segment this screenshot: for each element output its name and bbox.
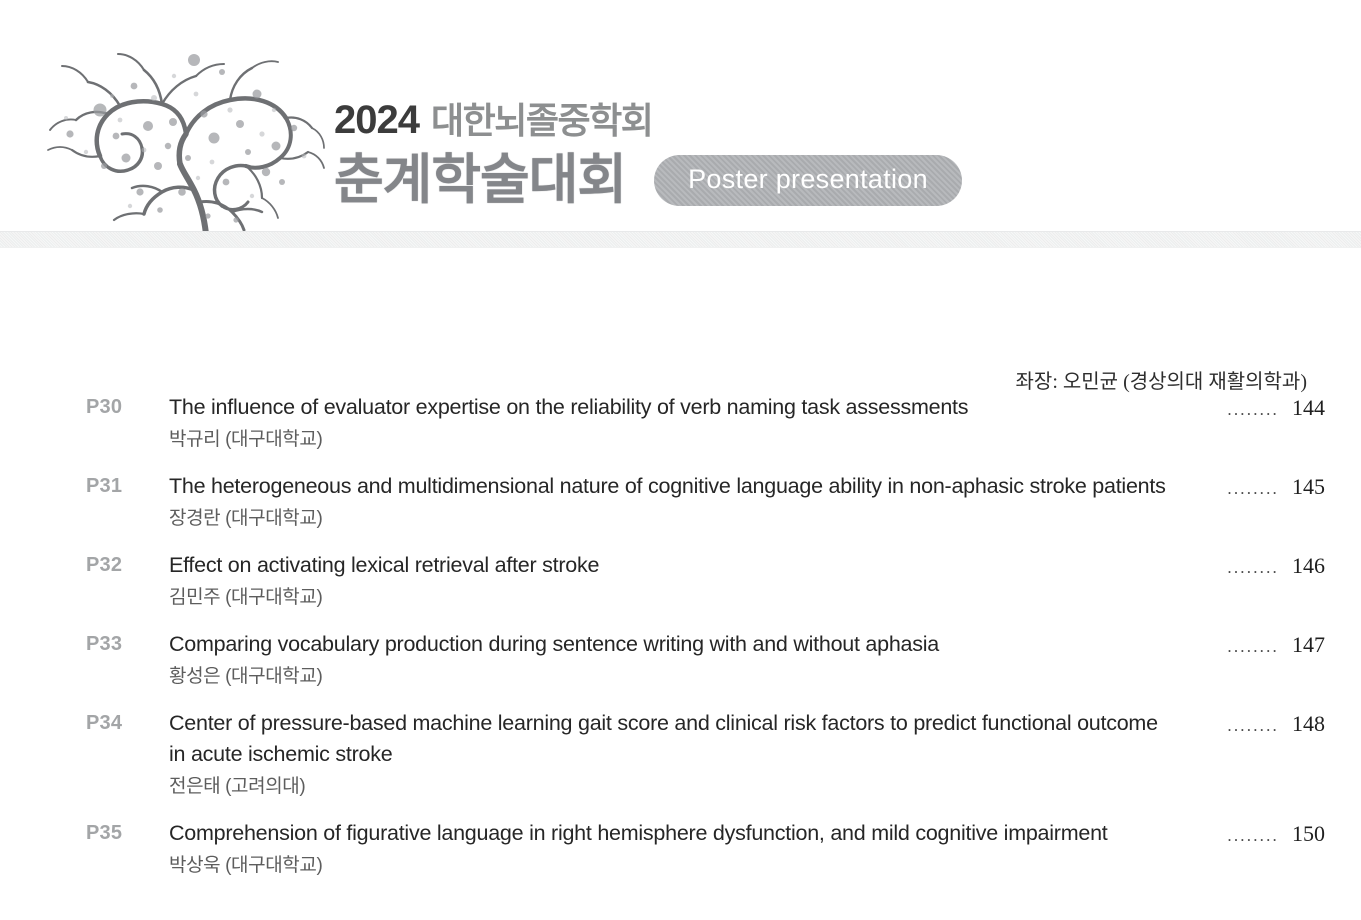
poster-title[interactable]: Center of pressure-based machine learnin… [169,708,1179,770]
conference-year: 2024 [334,100,419,140]
poster-author: 박상욱 (대구대학교) [169,850,1361,881]
society-name: 대한뇌졸중학회 [431,103,652,139]
header-divider-band [0,231,1361,248]
brain-tree-logo [8,6,338,236]
poster-code: P30 [0,392,164,423]
poster-code: P34 [0,708,164,739]
poster-entry[interactable]: P31The heterogeneous and multidimensiona… [0,471,1361,540]
conference-title-block: 2024 대한뇌졸중학회 춘계학술대회 Poster presentation [334,100,1054,225]
poster-entry-list: P30The influence of evaluator expertise … [0,392,1361,887]
poster-code: P33 [0,629,164,660]
poster-entry[interactable]: P34Center of pressure-based machine lear… [0,708,1361,808]
poster-author: 전은태 (고려의대) [169,771,1361,802]
poster-title[interactable]: Comprehension of figurative language in … [169,818,1179,849]
poster-author: 장경란 (대구대학교) [169,503,1361,534]
title-line-two: 춘계학술대회 Poster presentation [334,152,962,209]
poster-code: P35 [0,818,164,849]
title-line-one: 2024 대한뇌졸중학회 [334,100,652,148]
poster-code: P32 [0,550,164,581]
poster-entry[interactable]: P35Comprehension of figurative language … [0,818,1361,887]
poster-author: 박규리 (대구대학교) [169,424,1361,455]
poster-entry[interactable]: P30The influence of evaluator expertise … [0,392,1361,461]
page-header: 2024 대한뇌졸중학회 춘계학술대회 Poster presentation [0,0,1361,232]
poster-title[interactable]: The heterogeneous and multidimensional n… [169,471,1179,502]
poster-title[interactable]: Effect on activating lexical retrieval a… [169,550,1179,581]
poster-author: 황성은 (대구대학교) [169,661,1361,692]
poster-code: P31 [0,471,164,502]
poster-entry[interactable]: P32Effect on activating lexical retrieva… [0,550,1361,619]
session-type-badge: Poster presentation [654,155,962,206]
poster-title[interactable]: Comparing vocabulary production during s… [169,629,1179,660]
session-chair: 좌장: 오민균 (경상의대 재활의학과) [1016,365,1307,394]
poster-author: 김민주 (대구대학교) [169,582,1361,613]
poster-title[interactable]: The influence of evaluator expertise on … [169,392,1179,423]
poster-entry[interactable]: P33Comparing vocabulary production durin… [0,629,1361,698]
conference-name: 춘계학술대회 [334,152,626,209]
